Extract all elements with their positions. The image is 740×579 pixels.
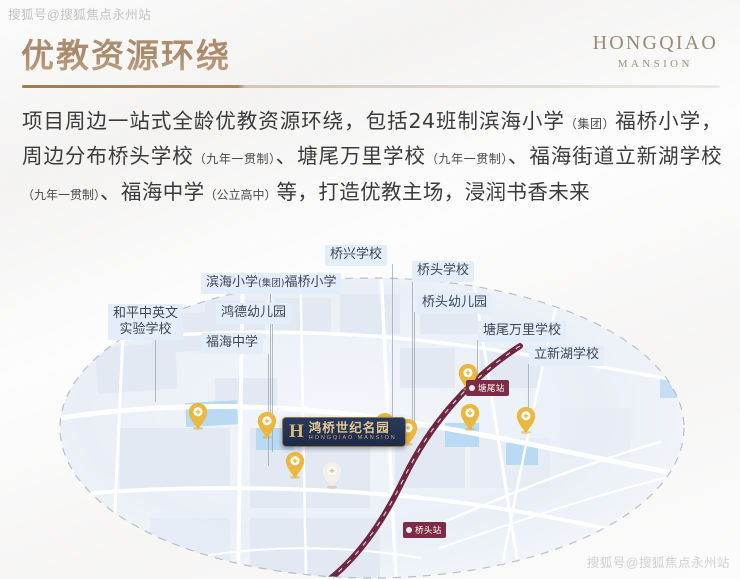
map-label-text: 塘尾万里学校: [483, 323, 561, 338]
brand-name-sub: MANSION: [593, 58, 718, 70]
map-label-text-tail: 福桥小学: [284, 275, 336, 290]
copy-note-3: （九年一贯制）: [426, 152, 508, 166]
leader-line: [268, 354, 269, 466]
leader-line: [414, 312, 415, 430]
brand-logo: HONGQIAO MANSION: [593, 33, 718, 70]
map-label-lixinhuxuexiao[interactable]: 立新湖学校: [529, 345, 604, 366]
metro-station-label: 桥头站: [415, 526, 442, 536]
map-pin-tangweiwanli[interactable]: [460, 404, 480, 431]
map-label-qiaotouyoueryuan[interactable]: 桥头幼儿园: [417, 293, 492, 314]
map-pin-fuhaizhongxue[interactable]: [322, 462, 342, 489]
map-label-text: 滨海小学: [206, 275, 258, 290]
watermark-top: 搜狐号@搜狐焦点永州站: [8, 4, 151, 23]
copy-seg-1: 项目周边一站式全龄优教资源环绕，包括24班制滨海小学: [22, 109, 565, 133]
map-pin-hepingzhong[interactable]: [188, 403, 208, 430]
location-map[interactable]: 和平中英文 实验学校 滨海小学(集团)福桥小学 鸿德幼儿园 福海中学 桥兴学校 …: [0, 228, 740, 579]
map-label-note: (集团): [258, 278, 284, 289]
slide-page: 搜狐号@搜狐焦点永州站 搜狐号@搜狐焦点永州站 优教资源环绕 HONGQIAO …: [0, 0, 740, 579]
copy-note-2: （九年一贯制）: [194, 152, 276, 166]
map-label-fuhaizhongxue[interactable]: 福海中学: [201, 333, 263, 354]
map-label-qiaotouxuexiao[interactable]: 桥头学校: [412, 261, 474, 282]
project-logo-mark: H: [289, 422, 303, 441]
map-label-text: 桥头幼儿园: [422, 295, 487, 310]
copy-seg-3: 、塘尾万里学校: [276, 144, 426, 168]
map-label-text: 鸿德幼儿园: [221, 305, 286, 320]
map-label-text: 立新湖学校: [534, 347, 599, 362]
metro-station-qiaotou[interactable]: 桥头站: [403, 522, 446, 538]
leader-line: [392, 264, 393, 422]
metro-station-label: 塘尾站: [478, 384, 505, 394]
copy-note-1: （集团）: [565, 117, 615, 131]
title-divider: [22, 85, 720, 88]
brand-name-main: HONGQIAO: [593, 33, 718, 53]
map-label-binhaixiaoxue[interactable]: 滨海小学(集团)福桥小学: [201, 273, 341, 294]
leader-line: [412, 280, 413, 428]
map-pin-lixinhuxuexiao[interactable]: [516, 407, 536, 434]
copy-note-5: （公立高中）: [205, 188, 277, 202]
map-label-hongdeyoueryuan[interactable]: 鸿德幼儿园: [216, 303, 291, 324]
map-label-text: 桥兴学校: [330, 247, 382, 262]
copy-seg-5: 、福海中学: [100, 180, 205, 204]
copy-note-4: （九年一贯制）: [22, 188, 100, 202]
map-label-text: 福海中学: [206, 335, 258, 350]
map-label-hepingzhongyingwen[interactable]: 和平中英文 实验学校: [108, 304, 183, 340]
map-pin-hongdeyoueryuan[interactable]: [285, 452, 305, 479]
copy-seg-6: 等，打造优教主场，浸润书香未来: [277, 180, 591, 204]
map-label-qiaoxingxuexiao[interactable]: 桥兴学校: [325, 245, 387, 266]
project-name-en: HONGQIAO MANSION: [309, 436, 397, 442]
project-name-cn: 鸿桥世纪名园: [309, 422, 397, 435]
map-label-text: 桥头学校: [417, 263, 469, 278]
map-pin-binhaixiaoxue[interactable]: [257, 412, 277, 439]
project-badge-text: 鸿桥世纪名园 HONGQIAO MANSION: [309, 422, 397, 441]
metro-station-tangwei[interactable]: 塘尾站: [466, 380, 509, 396]
project-location-badge[interactable]: H 鸿桥世纪名园 HONGQIAO MANSION: [282, 417, 406, 447]
map-label-line1: 和平中英文: [113, 306, 178, 321]
map-label-line2: 实验学校: [120, 322, 172, 337]
map-label-tangweiwanli[interactable]: 塘尾万里学校: [478, 321, 566, 342]
page-title: 优教资源环绕: [21, 29, 231, 77]
description-paragraph: 项目周边一站式全龄优教资源环绕，包括24班制滨海小学（集团）福桥小学，周边分布桥…: [22, 104, 722, 210]
copy-seg-4: 、福海街道立新湖学校: [508, 144, 722, 168]
